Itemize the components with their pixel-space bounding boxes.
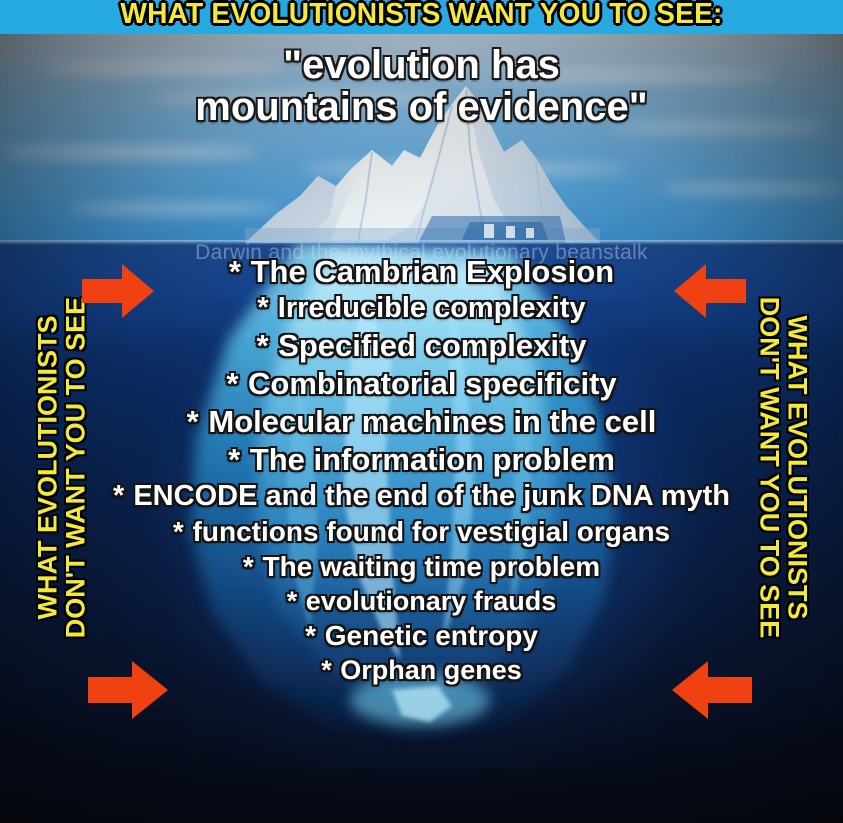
iceberg-list-item: * The information problem bbox=[0, 444, 843, 475]
side-label-right-line-2: DON'T WANT YOU TO SEE bbox=[755, 238, 783, 698]
iceberg-list-item: * ENCODE and the end of the junk DNA myt… bbox=[0, 482, 843, 511]
list-bullet-asterisk: * bbox=[287, 586, 299, 616]
iceberg-list-item-label: functions found for vestigial organs bbox=[193, 516, 671, 547]
iceberg-list-item-label: ENCODE and the end of the junk DNA myth bbox=[133, 480, 730, 512]
iceberg-item-list: * The Cambrian Explosion* Irreducible co… bbox=[0, 256, 843, 691]
arrow-bottom-right-icon bbox=[672, 659, 752, 721]
list-bullet-asterisk: * bbox=[321, 655, 333, 685]
list-bullet-asterisk: * bbox=[226, 366, 239, 401]
arrow-bottom-left-icon bbox=[88, 659, 168, 721]
side-label-right: WHAT EVOLUTIONISTS DON'T WANT YOU TO SEE bbox=[755, 238, 810, 698]
iceberg-list-item: * Specified complexity bbox=[0, 330, 843, 361]
iceberg-list-item: * functions found for vestigial organs bbox=[0, 518, 843, 546]
iceberg-list-item: * Molecular machines in the cell bbox=[0, 406, 843, 437]
iceberg-list-item-label: Specified complexity bbox=[278, 328, 586, 363]
iceberg-list-item: * The waiting time problem bbox=[0, 553, 843, 581]
arrow-top-left-icon bbox=[82, 262, 154, 320]
list-bullet-asterisk: * bbox=[173, 516, 185, 547]
iceberg-list-item-label: The information problem bbox=[250, 442, 615, 477]
list-bullet-asterisk: * bbox=[305, 620, 317, 651]
quote-line-1: "evolution has bbox=[0, 44, 843, 86]
list-bullet-asterisk: * bbox=[187, 404, 200, 439]
iceberg-list-item-label: The waiting time problem bbox=[263, 551, 601, 582]
list-bullet-asterisk: * bbox=[256, 328, 269, 363]
quote-line-2: mountains of evidence" bbox=[0, 86, 843, 128]
iceberg-list-item-label: evolutionary frauds bbox=[306, 586, 557, 616]
iceberg-list-item-label: Orphan genes bbox=[340, 655, 522, 685]
list-bullet-asterisk: * bbox=[257, 292, 269, 324]
list-bullet-asterisk: * bbox=[228, 442, 241, 477]
list-bullet-asterisk: * bbox=[229, 254, 242, 289]
iceberg-list-item-label: Combinatorial specificity bbox=[248, 366, 617, 401]
arrow-top-right-icon bbox=[674, 262, 746, 320]
iceberg-list-item: * evolutionary frauds bbox=[0, 588, 843, 615]
iceberg-list-item-label: Irreducible complexity bbox=[278, 292, 586, 324]
list-bullet-asterisk: * bbox=[113, 480, 125, 512]
side-label-left-line-1: WHAT EVOLUTIONISTS bbox=[34, 238, 62, 698]
top-banner-title: WHAT EVOLUTIONISTS WANT YOU TO SEE: bbox=[13, 0, 831, 31]
list-bullet-asterisk: * bbox=[243, 551, 255, 582]
iceberg-list-item-label: Genetic entropy bbox=[325, 620, 538, 651]
headline-quote: "evolution has mountains of evidence" bbox=[0, 44, 843, 128]
iceberg-list-item: * Combinatorial specificity bbox=[0, 368, 843, 399]
meme-image: WHAT EVOLUTIONISTS WANT YOU TO SEE: "evo… bbox=[0, 0, 843, 823]
side-label-right-line-1: WHAT EVOLUTIONISTS bbox=[783, 238, 811, 698]
iceberg-list-item-label: Molecular machines in the cell bbox=[208, 404, 656, 439]
iceberg-list-item-label: The Cambrian Explosion bbox=[251, 254, 614, 289]
iceberg-list-item: * Genetic entropy bbox=[0, 622, 843, 650]
